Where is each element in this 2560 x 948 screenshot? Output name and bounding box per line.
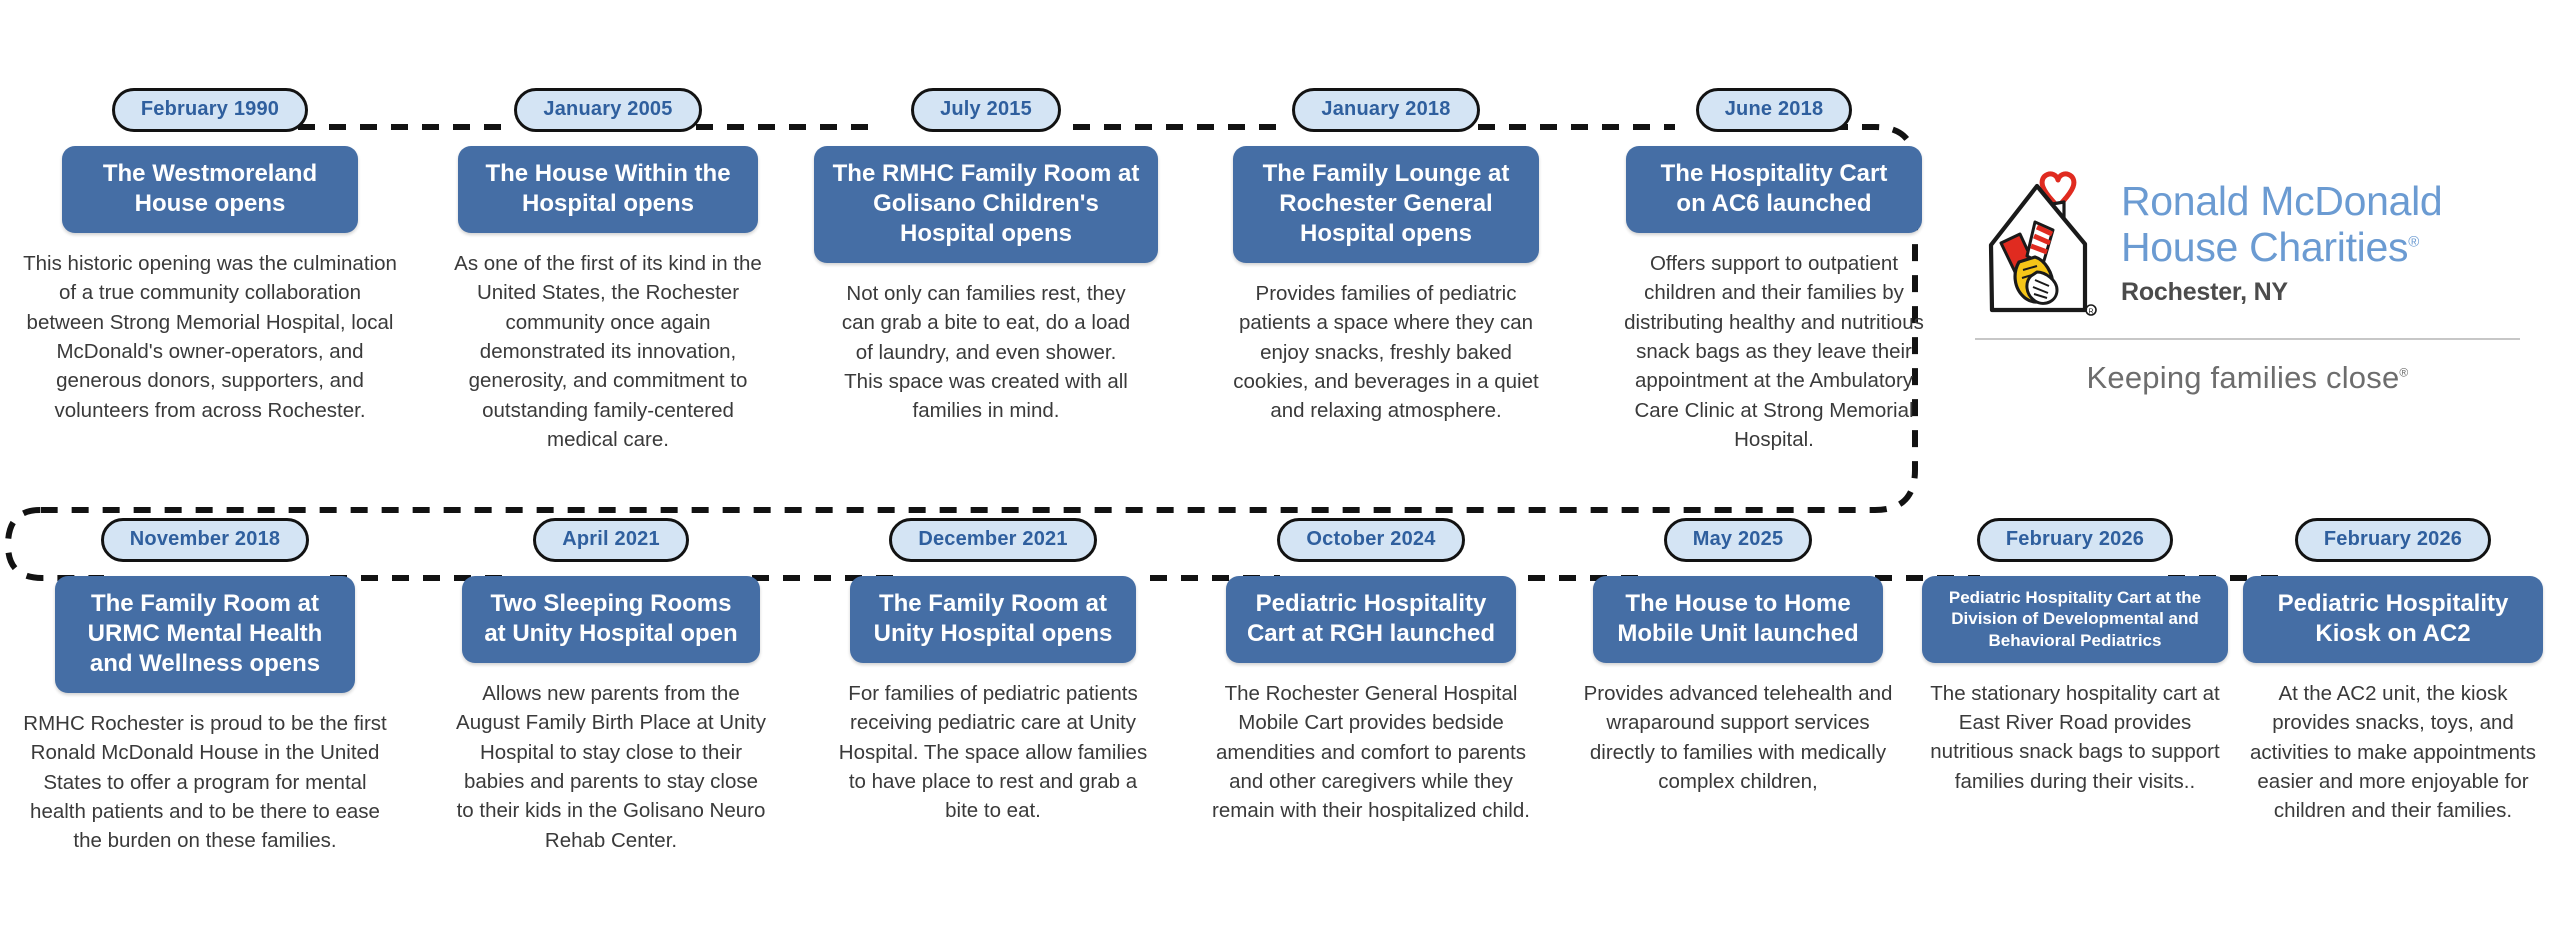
timeline-infographic: February 1990 The Westmoreland House ope… bbox=[0, 0, 2560, 948]
event-title-11: Pediatric Hospitality Cart at the Divisi… bbox=[1922, 576, 2228, 663]
timeline-event-11[interactable]: February 2026 Pediatric Hospitality Cart… bbox=[1900, 518, 2250, 796]
date-pill-12[interactable]: February 2026 bbox=[2295, 518, 2491, 562]
logo-tagline: Keeping families close bbox=[2087, 360, 2400, 395]
event-title-1: The Westmoreland House opens bbox=[62, 146, 358, 233]
event-title-5: The Hospitality Cart on AC6 launched bbox=[1626, 146, 1922, 233]
event-body-4: Provides families of pediatric patients … bbox=[1221, 279, 1551, 426]
logo-divider bbox=[1975, 338, 2520, 340]
timeline-event-2[interactable]: January 2005 The House Within the Hospit… bbox=[412, 88, 804, 454]
event-body-3: Not only can families rest, they can gra… bbox=[832, 279, 1140, 426]
date-pill-7[interactable]: April 2021 bbox=[533, 518, 689, 562]
event-body-5: Offers support to outpatient children an… bbox=[1611, 249, 1937, 454]
logo-line-2: House Charities bbox=[2121, 224, 2408, 270]
event-title-9: Pediatric Hospitality Cart at RGH launch… bbox=[1226, 576, 1516, 663]
event-body-11: The stationary hospitality cart at East … bbox=[1915, 679, 2235, 796]
event-body-12: At the AC2 unit, the kiosk provides snac… bbox=[2243, 679, 2543, 826]
logo-tagline-wrap: Keeping families close® bbox=[1975, 360, 2520, 396]
rmhc-logo-block: R Ronald McDonald House Charities® Roche… bbox=[1975, 160, 2535, 396]
event-title-6: The Family Room at URMC Mental Health an… bbox=[55, 576, 355, 693]
date-pill-6[interactable]: November 2018 bbox=[101, 518, 309, 562]
timeline-event-1[interactable]: February 1990 The Westmoreland House ope… bbox=[14, 88, 406, 425]
logo-tagline-registered-mark: ® bbox=[2399, 366, 2408, 380]
timeline-event-4[interactable]: January 2018 The Family Lounge at Roches… bbox=[1190, 88, 1582, 426]
date-pill-9[interactable]: October 2024 bbox=[1277, 518, 1464, 562]
date-pill-11[interactable]: February 2026 bbox=[1977, 518, 2173, 562]
timeline-event-6[interactable]: November 2018 The Family Room at URMC Me… bbox=[10, 518, 400, 856]
timeline-event-12[interactable]: February 2026 Pediatric Hospitality Kios… bbox=[2232, 518, 2554, 826]
event-title-2: The House Within the Hospital opens bbox=[458, 146, 758, 233]
event-body-2: As one of the first of its kind in the U… bbox=[448, 249, 768, 454]
date-pill-1[interactable]: February 1990 bbox=[112, 88, 308, 132]
event-body-8: For families of pediatric patients recei… bbox=[828, 679, 1158, 826]
event-body-1: This historic opening was the culminatio… bbox=[16, 249, 404, 425]
date-pill-5[interactable]: June 2018 bbox=[1696, 88, 1853, 132]
rmhc-house-heart-hands-icon: R bbox=[1975, 160, 2107, 320]
logo-registered-mark: ® bbox=[2408, 234, 2419, 251]
date-pill-2[interactable]: January 2005 bbox=[514, 88, 701, 132]
timeline-event-3[interactable]: July 2015 The RMHC Family Room at Golisa… bbox=[790, 88, 1182, 426]
event-body-9: The Rochester General Hospital Mobile Ca… bbox=[1204, 679, 1538, 826]
logo-line-1: Ronald McDonald bbox=[2121, 178, 2442, 224]
event-title-3: The RMHC Family Room at Golisano Childre… bbox=[814, 146, 1158, 263]
event-title-7: Two Sleeping Rooms at Unity Hospital ope… bbox=[462, 576, 760, 663]
event-body-7: Allows new parents from the August Famil… bbox=[451, 679, 771, 855]
date-pill-3[interactable]: July 2015 bbox=[911, 88, 1061, 132]
date-pill-4[interactable]: January 2018 bbox=[1292, 88, 1479, 132]
timeline-event-5[interactable]: June 2018 The Hospitality Cart on AC6 la… bbox=[1578, 88, 1970, 454]
logo-city: Rochester, NY bbox=[2121, 278, 2442, 307]
event-body-6: RMHC Rochester is proud to be the first … bbox=[12, 709, 398, 856]
svg-text:R: R bbox=[2088, 309, 2093, 316]
event-title-10: The House to Home Mobile Unit launched bbox=[1593, 576, 1883, 663]
timeline-event-10[interactable]: May 2025 The House to Home Mobile Unit l… bbox=[1548, 518, 1928, 796]
date-pill-10[interactable]: May 2025 bbox=[1664, 518, 1813, 562]
event-title-4: The Family Lounge at Rochester General H… bbox=[1233, 146, 1539, 263]
event-body-10: Provides advanced telehealth and wraparo… bbox=[1578, 679, 1898, 796]
event-title-12: Pediatric Hospitality Kiosk on AC2 bbox=[2243, 576, 2543, 663]
timeline-event-9[interactable]: October 2024 Pediatric Hospitality Cart … bbox=[1178, 518, 1564, 826]
date-pill-8[interactable]: December 2021 bbox=[889, 518, 1096, 562]
timeline-event-7[interactable]: April 2021 Two Sleeping Rooms at Unity H… bbox=[418, 518, 804, 855]
event-title-8: The Family Room at Unity Hospital opens bbox=[850, 576, 1136, 663]
timeline-event-8[interactable]: December 2021 The Family Room at Unity H… bbox=[800, 518, 1186, 826]
